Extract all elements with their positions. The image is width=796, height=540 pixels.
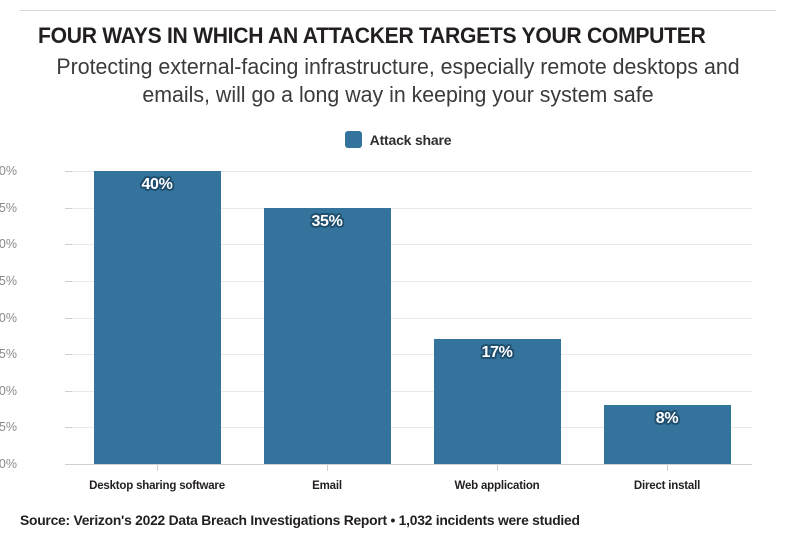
y-tick-label: 40% <box>0 164 17 178</box>
y-tick-mark <box>65 427 72 428</box>
plot-wrapper: 0%5%10%15%20%25%30%35%40% 40%35%17%8% De… <box>0 160 796 480</box>
plot-area: 0%5%10%15%20%25%30%35%40% 40%35%17%8% De… <box>72 171 752 464</box>
bar[interactable]: 35% <box>264 208 391 464</box>
y-tick-mark <box>65 171 72 172</box>
source-note: Source: Verizon's 2022 Data Breach Inves… <box>20 512 580 528</box>
y-tick-mark <box>65 318 72 319</box>
y-tick-mark <box>65 391 72 392</box>
chart-subtitle: Protecting external-facing infrastructur… <box>29 53 766 109</box>
y-tick-mark <box>65 208 72 209</box>
x-tick-mark <box>327 464 328 471</box>
legend-swatch-attack-share <box>345 131 362 148</box>
y-tick-mark <box>65 464 72 465</box>
y-tick-label: 20% <box>0 311 17 325</box>
bar-value-label: 35% <box>264 213 391 231</box>
x-tick-label: Desktop sharing software <box>89 480 225 492</box>
y-tick-label: 10% <box>0 384 17 398</box>
bar-value-label: 40% <box>94 176 221 194</box>
y-tick-mark <box>65 354 72 355</box>
bar-slot: 17% <box>434 171 561 464</box>
bar-slot: 35% <box>264 171 391 464</box>
x-tick-mark <box>497 464 498 471</box>
x-tick-mark <box>157 464 158 471</box>
x-tick-label: Direct install <box>634 480 700 492</box>
top-divider <box>20 10 776 11</box>
bar-value-label: 17% <box>434 344 561 362</box>
y-tick-label: 25% <box>0 274 17 288</box>
bar[interactable]: 8% <box>604 405 731 464</box>
bar[interactable]: 40% <box>94 171 221 464</box>
legend-label-attack-share: Attack share <box>370 132 452 148</box>
bar[interactable]: 17% <box>434 339 561 464</box>
y-tick-label: 5% <box>0 420 17 434</box>
gridline <box>72 464 752 465</box>
x-tick-label: Email <box>312 480 342 492</box>
y-tick-mark <box>65 244 72 245</box>
chart-title: FOUR WAYS IN WHICH AN ATTACKER TARGETS Y… <box>38 24 748 48</box>
x-tick-label: Web application <box>455 480 540 492</box>
bar-series-attack-share: 40%35%17%8% <box>72 171 752 464</box>
bar-slot: 40% <box>94 171 221 464</box>
chart-page: FOUR WAYS IN WHICH AN ATTACKER TARGETS Y… <box>0 0 796 540</box>
chart-legend: Attack share <box>0 131 796 148</box>
y-tick-label: 15% <box>0 347 17 361</box>
bar-value-label: 8% <box>604 410 731 428</box>
y-tick-label: 0% <box>0 457 17 471</box>
bar-slot: 8% <box>604 171 731 464</box>
y-tick-mark <box>65 281 72 282</box>
x-tick-mark <box>667 464 668 471</box>
y-tick-label: 30% <box>0 237 17 251</box>
y-tick-label: 35% <box>0 201 17 215</box>
